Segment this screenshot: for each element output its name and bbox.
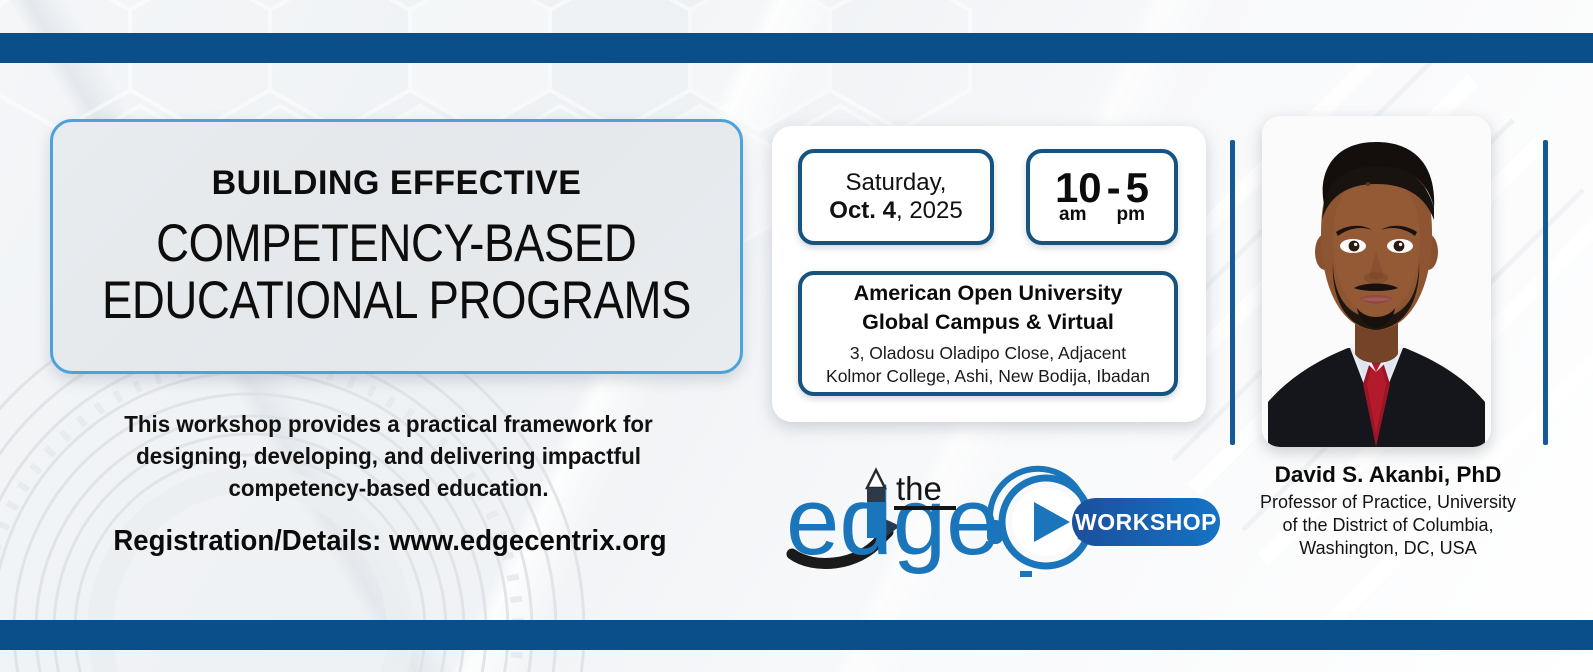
workshop-banner: BUILDING EFFECTIVE COMPETENCY-BASED EDUC… xyxy=(0,0,1593,672)
event-date-day: Oct. 4 xyxy=(829,197,896,224)
event-time-range: 10 - 5 xyxy=(1055,168,1149,208)
venue-address-line-1: 3, Oladosu Oladipo Close, Adjacent xyxy=(850,342,1126,365)
speaker-caption: David S. Akanbi, PhD Professor of Practi… xyxy=(1232,462,1544,560)
portrait-accent-line-left xyxy=(1230,140,1235,445)
event-time-start: 10 xyxy=(1055,168,1102,208)
edge-logo-the-text: the xyxy=(896,470,942,507)
description-line-1: This workshop provides a practical frame… xyxy=(82,408,695,440)
edge-logo-svg: edge the xyxy=(784,462,1224,582)
pencil-icon xyxy=(867,470,885,538)
event-venue-box: American Open University Global Campus &… xyxy=(798,271,1178,396)
registration-link[interactable]: Registration/Details: www.edgecentrix.or… xyxy=(77,525,704,558)
workshop-description: This workshop provides a practical frame… xyxy=(82,408,695,505)
event-time-meridiems: am pm xyxy=(1059,204,1145,226)
event-date-weekday: Saturday, xyxy=(846,169,947,197)
event-date-box: Saturday, Oct. 4, 2025 xyxy=(798,149,994,245)
event-time-dash: - xyxy=(1107,168,1121,208)
headline-card: BUILDING EFFECTIVE COMPETENCY-BASED EDUC… xyxy=(50,119,743,374)
speaker-role-line-3: Washington, DC, USA xyxy=(1232,537,1544,560)
event-date-year: , 2025 xyxy=(896,197,963,224)
bottom-accent-bar xyxy=(0,620,1593,650)
portrait-accent-line-right xyxy=(1543,140,1548,445)
event-time-end-meridiem: pm xyxy=(1116,204,1145,226)
top-accent-bar xyxy=(0,33,1593,63)
venue-address-line-2: Kolmor College, Ashi, New Bodija, Ibadan xyxy=(826,365,1150,388)
edge-wordmark: edge xyxy=(786,468,1000,575)
event-time-box: 10 - 5 am pm xyxy=(1026,149,1178,245)
speaker-role-line-2: of the District of Columbia, xyxy=(1232,514,1544,537)
event-time-start-meridiem: am xyxy=(1059,204,1086,226)
event-time-end: 5 xyxy=(1126,168,1149,208)
venue-name-line-1: American Open University xyxy=(854,279,1123,308)
headline-line-1: COMPETENCY-BASED xyxy=(156,215,636,272)
headline-line-2: EDUCATIONAL PROGRAMS xyxy=(102,272,691,329)
description-line-3: competency-based education. xyxy=(82,472,695,504)
speaker-portrait-card xyxy=(1262,116,1491,447)
description-line-2: designing, developing, and delivering im… xyxy=(82,440,695,472)
edge-logo-the-underline xyxy=(894,506,956,510)
edge-workshop-logo: edge the xyxy=(784,462,1224,582)
speaker-portrait-image xyxy=(1262,116,1491,447)
speaker-role-line-1: Professor of Practice, University xyxy=(1232,491,1544,514)
headline-kicker: BUILDING EFFECTIVE xyxy=(212,164,582,203)
event-info-card: Saturday, Oct. 4, 2025 10 - 5 am pm Amer… xyxy=(772,126,1206,422)
workshop-badge-label: WORKSHOP xyxy=(1075,509,1217,535)
speaker-name: David S. Akanbi, PhD xyxy=(1232,462,1544,488)
event-date-full: Oct. 4, 2025 xyxy=(829,197,962,225)
venue-name-line-2: Global Campus & Virtual xyxy=(862,308,1114,337)
